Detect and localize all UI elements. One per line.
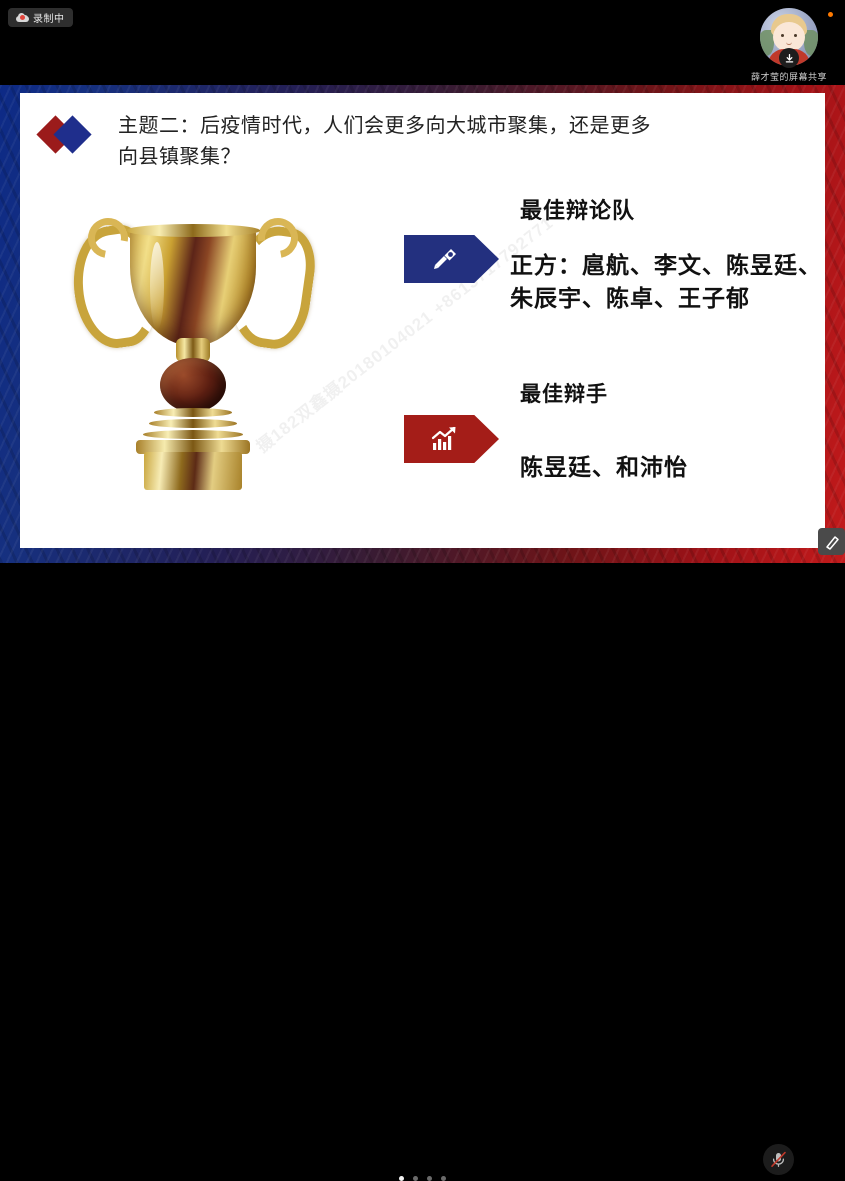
recording-led (828, 12, 833, 17)
page-dot[interactable] (399, 1176, 404, 1181)
slide-canvas[interactable]: 摄182双鑫摄20180104021 +8613717792771 主题二：后疫… (20, 93, 825, 548)
avatar[interactable] (760, 8, 818, 66)
double-diamond-logo (42, 115, 100, 155)
page-indicator[interactable] (0, 1176, 845, 1181)
page-dot[interactable] (441, 1176, 446, 1181)
page-dot[interactable] (413, 1176, 418, 1181)
best-team-arrow (404, 235, 499, 283)
best-debater-arrow (404, 415, 499, 463)
top-bar: 录制中 薛才莹的屏幕共享 (0, 0, 845, 85)
recording-label: 录制中 (33, 10, 65, 25)
recording-indicator: 录制中 (8, 8, 73, 27)
pen-nib-icon (430, 244, 460, 274)
screen-share-viewer: 录制中 薛才莹的屏幕共享 (0, 0, 845, 635)
bottom-bar (0, 563, 845, 635)
presenter-label: 薛才莹的屏幕共享 (739, 70, 839, 83)
page-dot[interactable] (427, 1176, 432, 1181)
best-team-members: 正方：扈航、李文、陈昱廷、朱辰宇、陈卓、王子郁 (510, 250, 825, 315)
best-debater-heading: 最佳辩手 (520, 378, 608, 408)
slide-stage: 摄182双鑫摄20180104021 +8613717792771 主题二：后疫… (0, 85, 845, 563)
slide-title: 主题二：后疫情时代，人们会更多向大城市聚集，还是更多向县镇聚集？ (118, 110, 658, 172)
cloud-record-icon (16, 13, 29, 22)
growth-chart-icon (430, 425, 460, 453)
presenter-tile[interactable]: 薛才莹的屏幕共享 (739, 8, 839, 83)
best-team-heading: 最佳辩论队 (520, 193, 635, 225)
annotate-pen-icon[interactable] (818, 528, 845, 555)
download-icon (779, 48, 799, 68)
mic-muted-icon[interactable] (763, 1144, 794, 1175)
gold-trophy-icon (68, 208, 318, 493)
best-debater-names: 陈昱廷、和沛怡 (520, 448, 688, 482)
